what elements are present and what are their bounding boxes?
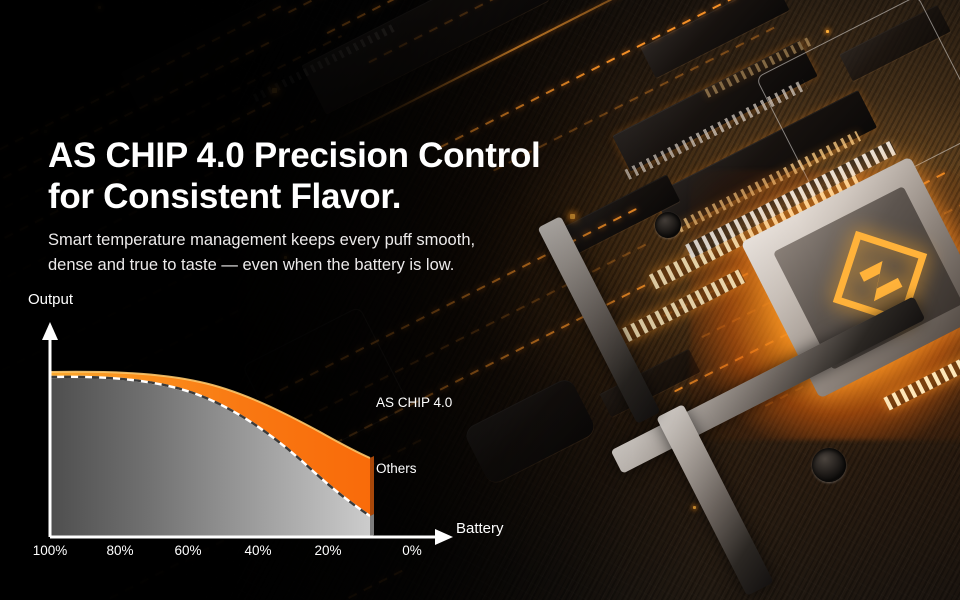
chart-right-edge-orange bbox=[370, 456, 374, 516]
legend-label-others: Others bbox=[376, 461, 417, 476]
x-tick-5: 0% bbox=[382, 543, 442, 558]
x-tick-2: 60% bbox=[158, 543, 218, 558]
promo-banner: AS CHIP 4.0 Precision Control for Consis… bbox=[0, 0, 960, 600]
page-subtitle: Smart temperature management keeps every… bbox=[48, 228, 588, 278]
subtext-line-1: Smart temperature management keeps every… bbox=[48, 228, 588, 253]
subtext-line-2: dense and true to taste — even when the … bbox=[48, 253, 588, 278]
x-tick-3: 40% bbox=[228, 543, 288, 558]
legend-label-as-chip: AS CHIP 4.0 bbox=[376, 395, 452, 410]
headline-line-1: AS CHIP 4.0 Precision Control bbox=[48, 136, 608, 177]
x-axis-label: Battery bbox=[456, 520, 504, 537]
chart-right-edge-grey bbox=[370, 514, 374, 537]
x-tick-4: 20% bbox=[298, 543, 358, 558]
y-axis-label: Output bbox=[28, 291, 73, 308]
output-vs-battery-chart: Output Battery AS CHIP 4.0 Others 100% 8… bbox=[0, 290, 540, 590]
x-tick-1: 80% bbox=[90, 543, 150, 558]
headline-line-2: for Consistent Flavor. bbox=[48, 177, 608, 218]
page-title: AS CHIP 4.0 Precision Control for Consis… bbox=[48, 136, 608, 218]
x-tick-0: 100% bbox=[20, 543, 80, 558]
